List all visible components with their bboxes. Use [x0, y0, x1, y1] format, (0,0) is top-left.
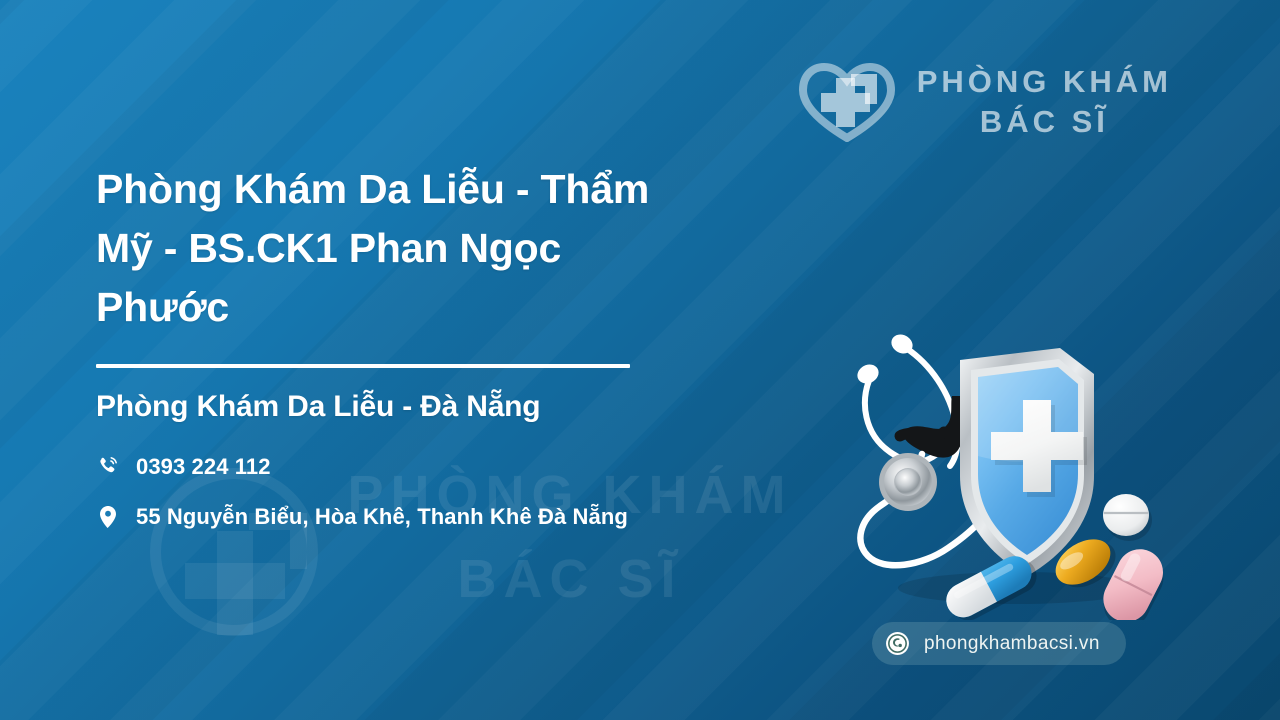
brand-logo-line-2: BÁC SĨ	[917, 102, 1172, 142]
title-divider	[96, 364, 630, 368]
pill-white-round-tablet	[1103, 494, 1152, 541]
page-title: Phòng Khám Da Liễu - Thẩm Mỹ - BS.CK1 Ph…	[96, 160, 696, 337]
brand-logo: PHÒNG KHÁM BÁC SĨ	[799, 62, 1172, 142]
brand-logo-line-1: PHÒNG KHÁM	[917, 62, 1172, 102]
medical-shield-cross-icon	[960, 348, 1094, 576]
globe-icon	[885, 631, 910, 656]
website-url: phongkhambacsi.vn	[924, 633, 1100, 655]
heart-cross-icon	[799, 62, 895, 142]
phone-ring-icon	[96, 452, 120, 477]
clinic-address: 55 Nguyễn Biểu, Hòa Khê, Thanh Khê Đà Nẵ…	[136, 502, 628, 532]
website-badge[interactable]: phongkhambacsi.vn	[872, 622, 1126, 665]
address-row[interactable]: 55 Nguyễn Biểu, Hòa Khê, Thanh Khê Đà Nẵ…	[96, 502, 696, 532]
phone-number: 0393 224 112	[136, 452, 271, 482]
clinic-banner: PHÒNG KHÁM BÁC SĨ PHÒNG KHÁM BÁC SĨ Phòn…	[0, 0, 1280, 720]
brand-logo-text: PHÒNG KHÁM BÁC SĨ	[917, 62, 1172, 141]
clinic-subtitle: Phòng Khám Da Liễu - Đà Nẵng	[96, 390, 696, 424]
banner-content: Phòng Khám Da Liễu - Thẩm Mỹ - BS.CK1 Ph…	[96, 160, 696, 553]
phone-row[interactable]: 0393 224 112	[96, 452, 696, 482]
map-pin-icon	[96, 502, 120, 529]
medical-illustration	[838, 330, 1168, 620]
